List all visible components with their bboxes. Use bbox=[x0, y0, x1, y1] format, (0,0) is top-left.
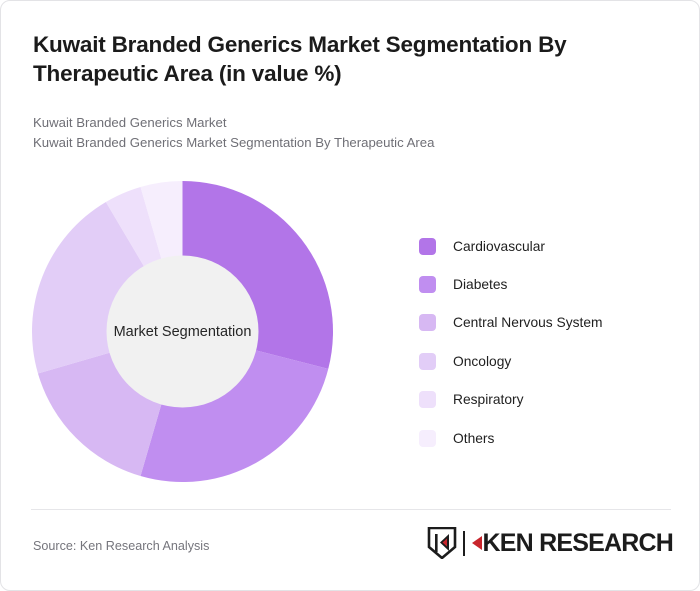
logo-text-research: RESEARCH bbox=[539, 531, 673, 556]
logo-triangle-icon bbox=[472, 536, 482, 550]
legend-swatch bbox=[419, 314, 436, 331]
legend-item[interactable]: Oncology bbox=[419, 342, 677, 380]
legend-swatch bbox=[419, 238, 436, 255]
legend-label: Respiratory bbox=[453, 392, 524, 407]
subtitle-line-1: Kuwait Branded Generics Market bbox=[33, 113, 653, 133]
footer-divider bbox=[31, 509, 671, 510]
legend-item[interactable]: Others bbox=[419, 419, 677, 457]
donut-chart: Market Segmentation bbox=[32, 181, 333, 482]
legend-label: Oncology bbox=[453, 354, 511, 369]
page-title: Kuwait Branded Generics Market Segmentat… bbox=[33, 31, 653, 89]
legend-label: Cardiovascular bbox=[453, 239, 545, 254]
legend-swatch bbox=[419, 391, 436, 408]
subtitle-group: Kuwait Branded Generics Market Kuwait Br… bbox=[33, 113, 653, 154]
logo-text-ken: KEN bbox=[483, 531, 533, 556]
legend-item[interactable]: Central Nervous System bbox=[419, 304, 677, 342]
legend-label: Others bbox=[453, 431, 494, 446]
chart-card: Kuwait Branded Generics Market Segmentat… bbox=[0, 0, 700, 591]
legend-swatch bbox=[419, 353, 436, 370]
legend-swatch bbox=[419, 430, 436, 447]
donut-svg bbox=[32, 181, 333, 482]
chart-legend: CardiovascularDiabetesCentral Nervous Sy… bbox=[419, 227, 677, 457]
legend-item[interactable]: Respiratory bbox=[419, 381, 677, 419]
logo-separator bbox=[463, 531, 465, 556]
ken-shield-icon bbox=[427, 527, 457, 559]
source-note: Source: Ken Research Analysis bbox=[33, 539, 209, 553]
chart-area: Market Segmentation CardiovascularDiabet… bbox=[1, 161, 700, 501]
subtitle-line-2: Kuwait Branded Generics Market Segmentat… bbox=[33, 133, 653, 153]
legend-swatch bbox=[419, 276, 436, 293]
logo-wordmark: KEN RESEARCH bbox=[472, 531, 673, 556]
donut-hole bbox=[107, 256, 259, 408]
ken-research-logo: KEN RESEARCH bbox=[427, 527, 673, 559]
legend-item[interactable]: Cardiovascular bbox=[419, 227, 677, 265]
legend-label: Diabetes bbox=[453, 277, 507, 292]
legend-item[interactable]: Diabetes bbox=[419, 265, 677, 303]
legend-label: Central Nervous System bbox=[453, 315, 603, 330]
